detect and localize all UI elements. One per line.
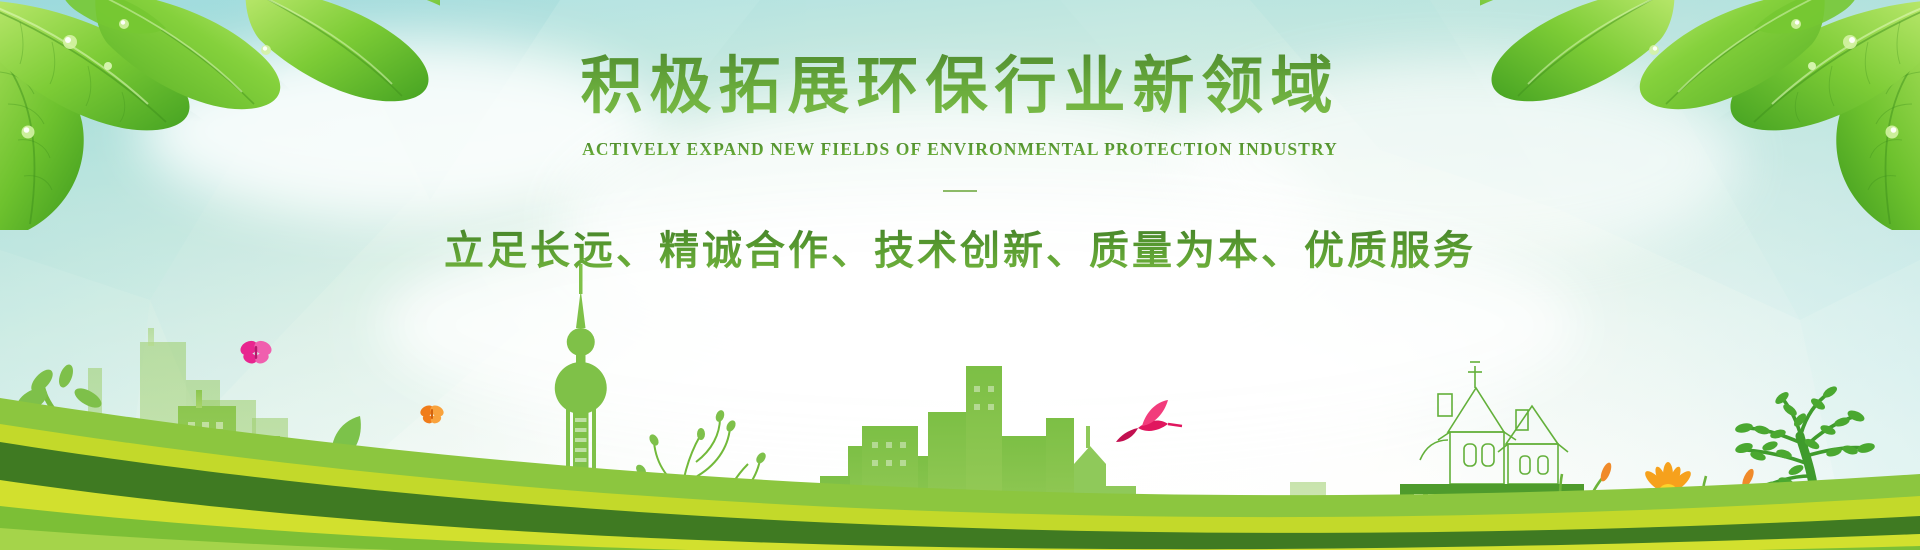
page-title: 积极拓展环保行业新领域	[0, 0, 1920, 121]
subtitle-english: ACTIVELY EXPAND NEW FIELDS OF ENVIRONMEN…	[0, 139, 1920, 160]
eco-banner: 积极拓展环保行业新领域 ACTIVELY EXPAND NEW FIELDS O…	[0, 0, 1920, 550]
slogan: 立足长远、精诚合作、技术创新、质量为本、优质服务	[0, 218, 1920, 276]
banner-copy: 积极拓展环保行业新领域 ACTIVELY EXPAND NEW FIELDS O…	[0, 0, 1920, 276]
divider	[943, 190, 977, 192]
wave-bands	[0, 320, 1920, 550]
